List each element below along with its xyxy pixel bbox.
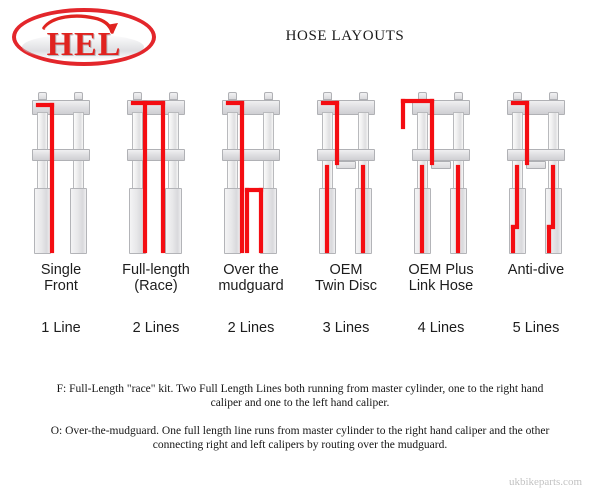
fork-diagram-oem-twin-disc: [303, 92, 389, 262]
brake-line-splitter-to-left: [325, 165, 329, 253]
label-line-1: Full-length: [111, 262, 201, 278]
fork-count-full-length-race: 2 Lines: [111, 320, 201, 336]
brake-line-splitter-to-right: [361, 165, 365, 253]
fork-slider-left: [224, 188, 241, 254]
fork-cap-left: [323, 92, 332, 100]
fork-cap-left: [513, 92, 522, 100]
fork-slider-right: [165, 188, 182, 254]
logo-wordmark: HEL: [12, 26, 156, 64]
fork-diagram-oem-plus-link: [398, 92, 484, 262]
link-hose: [401, 99, 405, 129]
brake-line-splitter-to-right: [456, 165, 460, 253]
fork-cap-left: [228, 92, 237, 100]
fork-count-over-mudguard: 2 Lines: [206, 320, 296, 336]
fork-diagram-single-front: [18, 92, 104, 262]
lower-triple-clamp: [507, 149, 565, 161]
label-line-1: Over the: [206, 262, 296, 278]
fork-label-oem-plus-link: OEM Plus Link Hose: [396, 262, 486, 294]
fork-cap-left: [38, 92, 47, 100]
brake-line-master-to-splitter: [335, 101, 339, 165]
watermark: ukbikeparts.com: [509, 476, 582, 488]
hose-layouts-page: HEL HOSE LAYOUTS: [0, 0, 600, 500]
mudguard-loop-left: [245, 188, 249, 253]
hose-splitter-block: [431, 161, 451, 169]
fork-slider-right: [70, 188, 87, 254]
brake-line-left: [143, 101, 147, 253]
brake-line-splitter-to-left: [515, 165, 519, 225]
fork-slider-left: [34, 188, 51, 254]
label-line-2: Front: [16, 278, 106, 294]
fork-cap-right: [74, 92, 83, 100]
fork-cap-right: [454, 92, 463, 100]
hel-logo: HEL: [12, 8, 160, 70]
fork-cap-right: [169, 92, 178, 100]
fork-count-anti-dive: 5 Lines: [491, 320, 581, 336]
fork-diagram-over-mudguard: [208, 92, 294, 262]
fork-cap-left: [133, 92, 142, 100]
diagram-row: Single Front Full-length (Race) Over the…: [18, 92, 584, 262]
brake-line-right: [161, 101, 165, 253]
note-over-mudguard: O: Over-the-mudguard. One full length li…: [42, 424, 558, 452]
fork-label-over-mudguard: Over the mudguard: [206, 262, 296, 294]
label-line-2: Link Hose: [396, 278, 486, 294]
label-line-2: Twin Disc: [301, 278, 391, 294]
fork-diagram-anti-dive: [493, 92, 579, 262]
brake-line-master-to-splitter: [525, 101, 529, 165]
lower-triple-clamp: [32, 149, 90, 161]
page-title: HOSE LAYOUTS: [180, 28, 510, 45]
anti-dive-drop-left: [511, 225, 515, 253]
anti-dive-drop-right: [547, 225, 551, 253]
fork-label-oem-twin-disc: OEM Twin Disc: [301, 262, 391, 294]
label-line-2: (Race): [111, 278, 201, 294]
fork-count-oem-twin-disc: 3 Lines: [301, 320, 391, 336]
fork-label-full-length-race: Full-length (Race): [111, 262, 201, 294]
fork-cap-right: [549, 92, 558, 100]
fork-cap-right: [264, 92, 273, 100]
label-line-1: OEM Plus: [396, 262, 486, 278]
brake-line-segment: [50, 103, 54, 253]
fork-cap-right: [359, 92, 368, 100]
brake-line-splitter-to-left: [420, 165, 424, 253]
lower-triple-clamp: [222, 149, 280, 161]
label-line-2: mudguard: [206, 278, 296, 294]
label-line-1: OEM: [301, 262, 391, 278]
brake-line-splitter-to-right: [551, 165, 555, 225]
fork-count-oem-plus-link: 4 Lines: [396, 320, 486, 336]
fork-count-single-front: 1 Line: [16, 320, 106, 336]
brake-line-master-to-splitter: [430, 99, 434, 165]
label-line-1: Single: [16, 262, 106, 278]
lower-triple-clamp: [317, 149, 375, 161]
note-full-length: F: Full-Length "race" kit. Two Full Leng…: [42, 382, 558, 410]
lower-triple-clamp: [412, 149, 470, 161]
lower-triple-clamp: [127, 149, 185, 161]
mudguard-loop-right: [259, 188, 263, 253]
fork-label-anti-dive: Anti-dive: [491, 262, 581, 278]
hose-splitter-block: [526, 161, 546, 169]
hose-splitter-block: [336, 161, 356, 169]
brake-line-right-full: [240, 101, 244, 253]
fork-diagram-full-length-race: [113, 92, 199, 262]
notes-section: F: Full-Length "race" kit. Two Full Leng…: [42, 382, 558, 466]
brake-line-segment: [131, 101, 165, 105]
label-line-1: Anti-dive: [491, 262, 581, 278]
fork-label-single-front: Single Front: [16, 262, 106, 294]
